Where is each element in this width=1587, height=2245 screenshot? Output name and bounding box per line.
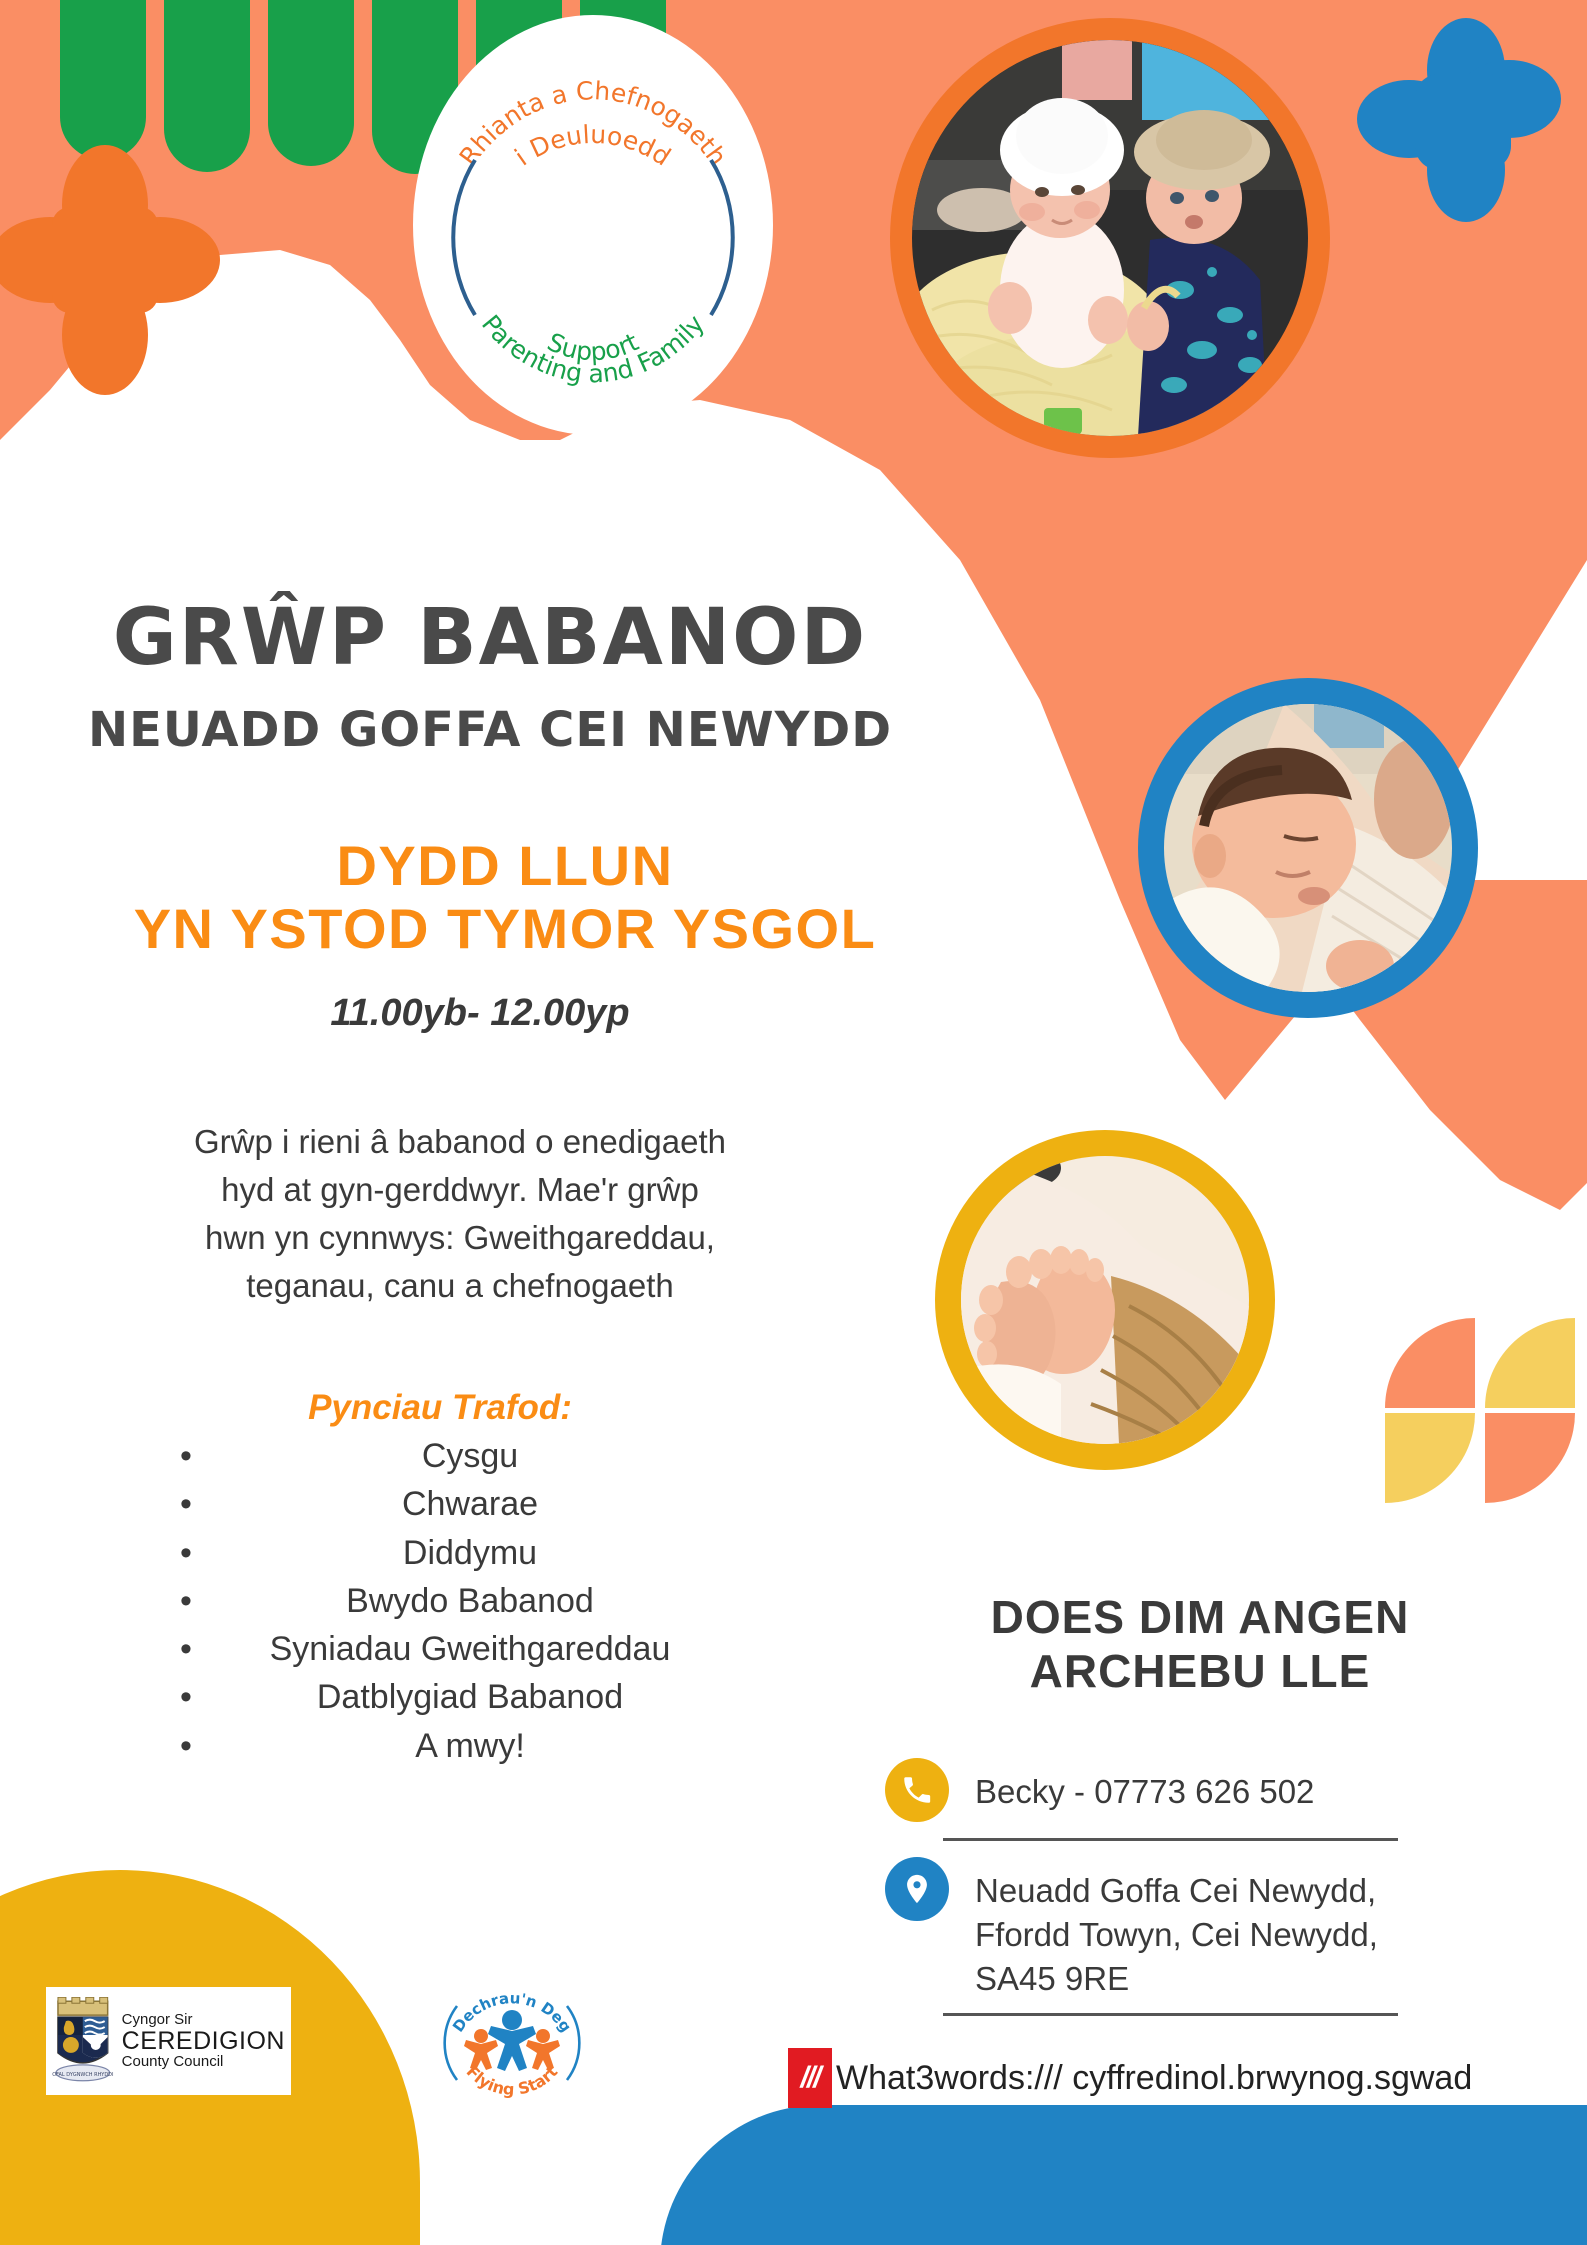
topics-heading: Pynciau Trafod: [120,1388,760,1428]
council-line2: CEREDIGION [122,2028,285,2054]
address-line1: Neuadd Goffa Cei Newydd, [975,1869,1378,1913]
contact-address-row[interactable]: Neuadd Goffa Cei Newydd, Ffordd Towyn, C… [885,1857,1565,2001]
logo-arc-text: Rhianta a Chefnogaeth i Deuluoedd Parent… [413,15,773,435]
list-item: Syniadau Gweithgareddau [120,1625,820,1673]
description-line1: Grŵp i rieni â babanod o enedigaeth [80,1118,840,1166]
orange-clover-decoration [0,145,220,395]
contact-phone-row[interactable]: Becky - 07773 626 502 [885,1758,1565,1822]
no-booking-notice: DOES DIM ANGEN ARCHEBU LLE [900,1590,1500,1699]
poster-canvas: Rhianta a Chefnogaeth i Deuluoedd Parent… [0,0,1587,2245]
list-item: Chwarae [120,1480,820,1528]
photo-babies-spaghetti [890,18,1330,458]
what3words-row[interactable]: /// What3words:/// cyffredinol.brwynog.s… [788,2048,1472,2108]
location-pin-icon [885,1857,949,1921]
ceredigion-crest-icon: GOFAL DYGNWCH RHYDDID [52,1997,114,2085]
phone-icon [885,1758,949,1822]
schedule-time: 11.00yb- 12.00yp [0,992,960,1035]
no-booking-line2: ARCHEBU LLE [900,1644,1500,1698]
what3words-icon: /// [788,2048,832,2108]
schedule-day: DYDD LLUN YN YSTOD TYMOR YSGOL [0,835,1010,960]
contact-address-text: Neuadd Goffa Cei Newydd, Ffordd Towyn, C… [975,1857,1378,2001]
description-line3: hwn yn cynnwys: Gweithgareddau, [80,1214,840,1262]
description-line2: hyd at gyn-gerddwyr. Mae'r grŵp [80,1166,840,1214]
page-title: GRŴP BABANOD [0,598,980,680]
list-item: Diddymu [120,1529,820,1577]
divider [943,1838,1398,1841]
schedule-day-line1: DYDD LLUN [0,835,1010,898]
schedule-day-line2: YN YSTOD TYMOR YSGOL [0,898,1010,961]
svg-text:Flying Start: Flying Start [463,2062,562,2099]
no-booking-line1: DOES DIM ANGEN [900,1590,1500,1644]
address-line2: Ffordd Towyn, Cei Newydd, [975,1913,1378,1957]
svg-text:GOFAL DYGNWCH RHYDDID: GOFAL DYGNWCH RHYDDID [52,2072,114,2078]
parenting-family-support-logo: Rhianta a Chefnogaeth i Deuluoedd Parent… [413,15,773,435]
photo-baby-feet-basket [935,1130,1275,1470]
council-line3: County Council [122,2054,285,2070]
description-line4: teganau, canu a chefnogaeth [80,1262,840,1310]
quote-mark-decoration [1385,1318,1580,1513]
list-item: Cysgu [120,1432,820,1480]
blue-clover-decoration [1357,18,1547,218]
list-item: Datblygiad Babanod [120,1673,820,1721]
venue-subtitle: NEUADD GOFFA CEI NEWYDD [0,702,980,758]
flying-start-logo: Dechrau'n Deg Flying Start [437,1968,587,2118]
list-item: Bwydo Babanod [120,1577,820,1625]
what3words-text: What3words:/// cyffredinol.brwynog.sgwad [836,2059,1472,2098]
list-item: A mwy! [120,1722,820,1770]
divider [943,2013,1398,2016]
ceredigion-logo-text: Cyngor Sir CEREDIGION County Council [122,2012,285,2070]
ceredigion-council-logo: GOFAL DYGNWCH RHYDDID Cyngor Sir CEREDIG… [46,1987,291,2095]
council-line1: Cyngor Sir [122,2012,285,2028]
blue-footer-blob [660,2105,1587,2245]
topics-list: Cysgu Chwarae Diddymu Bwydo Babanod Syni… [120,1432,820,1770]
contact-phone-text: Becky - 07773 626 502 [975,1758,1314,1814]
contact-block: Becky - 07773 626 502 Neuadd Goffa Cei N… [885,1758,1565,2034]
svg-text:i Deuluoedd: i Deuluoedd [510,120,676,172]
photo-newborn-sleeping [1138,678,1478,1018]
address-line3: SA45 9RE [975,1957,1378,2001]
description-paragraph: Grŵp i rieni â babanod o enedigaeth hyd … [80,1118,840,1309]
what3words-slashes: /// [800,2061,819,2095]
